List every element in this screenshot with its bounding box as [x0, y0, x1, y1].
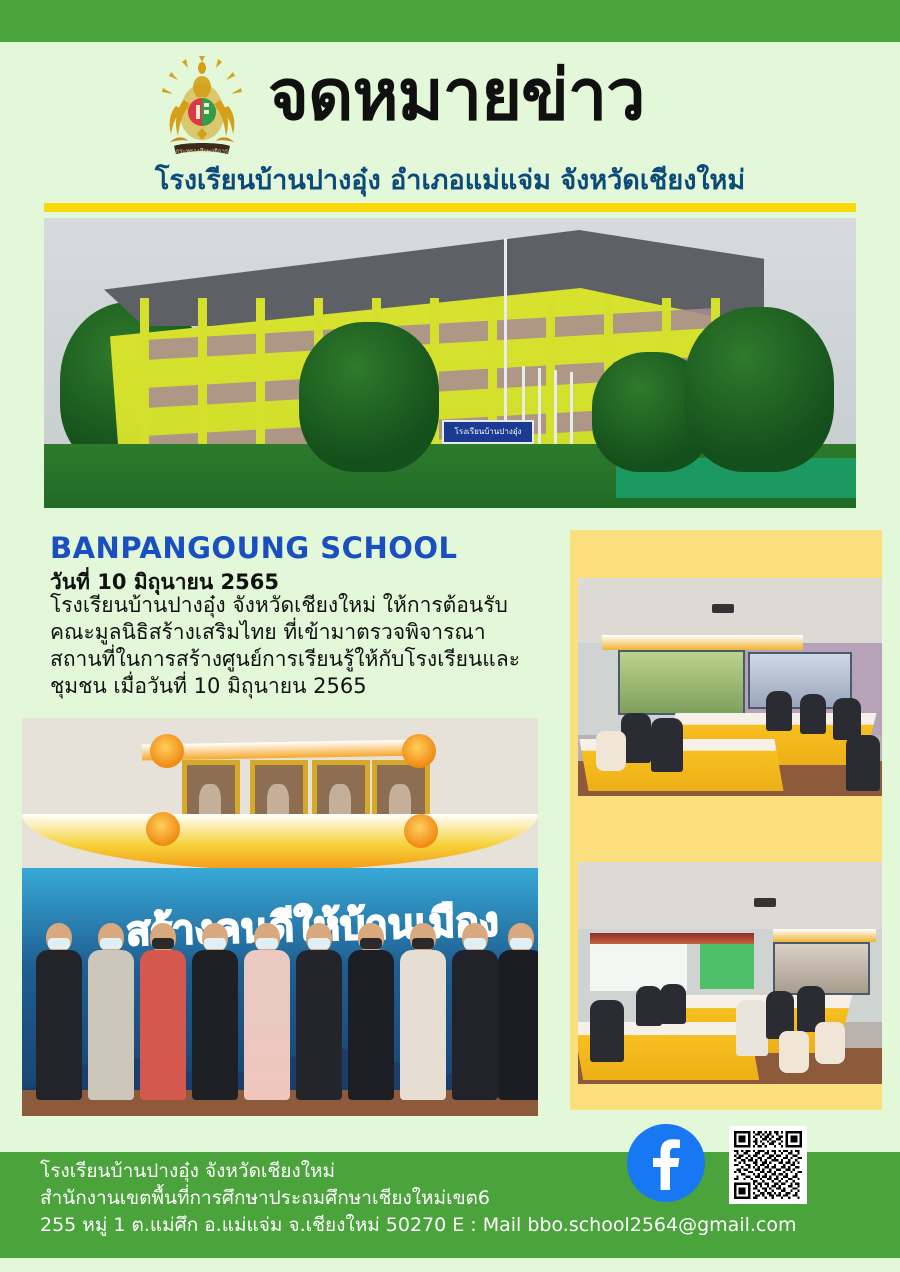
fabric-rosette: [146, 812, 180, 846]
school-name-sign-text: โรงเรียนบ้านปางอุ๋ง: [444, 422, 532, 442]
person: [192, 923, 238, 1100]
article-body-line: คณะมูลนิธิสร้างเสริมไทย ที่เข้ามาตรวจพิจ…: [50, 619, 555, 646]
masthead-title: จดหมายข่าว: [268, 60, 645, 130]
ministry-emblem-icon: กระทรวงศึกษาธิการ: [148, 54, 256, 166]
meeting-room-photo-bottom: [578, 862, 882, 1084]
person: [348, 923, 394, 1100]
ceiling: [578, 862, 882, 937]
article-title: BANPANGOUNG SCHOOL: [50, 531, 458, 565]
facebook-icon[interactable]: [627, 1124, 705, 1202]
qr-code[interactable]: [729, 1126, 807, 1204]
svg-text:กระทรวงศึกษาธิการ: กระทรวงศึกษาธิการ: [176, 148, 229, 155]
footer-line: โรงเรียนบ้านปางอุ๋ง จังหวัดเชียงใหม่: [40, 1158, 620, 1185]
seated-person: [636, 986, 662, 1026]
decor-valance: [590, 933, 754, 944]
footer-line: สำนักงานเขตพื้นที่การศึกษาประถมศึกษาเชีย…: [40, 1185, 620, 1212]
tree: [684, 307, 834, 472]
decor-valance: [773, 929, 876, 942]
person: [244, 923, 290, 1100]
school-name-sign: โรงเรียนบ้านปางอุ๋ง: [442, 420, 534, 444]
seated-person: [651, 718, 683, 772]
school-building-photo: โรงเรียนบ้านปางอุ๋ง: [44, 218, 856, 508]
chair: [779, 1031, 809, 1073]
meeting-room-photo-top: [578, 578, 882, 796]
chair: [596, 731, 626, 771]
article-body-line: โรงเรียนบ้านปางอุ๋ง จังหวัดเชียงใหม่ ให้…: [50, 592, 555, 619]
seated-person: [660, 984, 686, 1024]
seated-person: [833, 698, 861, 740]
article-body-line: สถานที่ในการสร้างศูนย์การเรียนรู้ให้กับโ…: [50, 646, 555, 673]
header: กระทรวงศึกษาธิการ จดหมายข่าว โรงเรียนบ้า…: [0, 46, 900, 198]
article-body: โรงเรียนบ้านปางอุ๋ง จังหวัดเชียงใหม่ ให้…: [50, 592, 555, 700]
person: [498, 923, 538, 1100]
projector: [754, 898, 776, 907]
person: [36, 923, 82, 1100]
person: [296, 923, 342, 1100]
person: [88, 923, 134, 1100]
projector: [712, 604, 734, 613]
footer-contact: โรงเรียนบ้านปางอุ๋ง จังหวัดเชียงใหม่ สำน…: [40, 1158, 620, 1239]
footer-line: 255 หมู่ 1 ต.แม่ศึก อ.แม่แจ่ม จ.เชียงใหม…: [40, 1212, 620, 1239]
fabric-rosette: [402, 734, 436, 768]
header-subtitle: โรงเรียนบ้านปางอุ๋ง อำเภอแม่แจ่ม จังหวัด…: [0, 158, 900, 201]
seated-person: [736, 1000, 768, 1056]
fabric-rosette: [404, 814, 438, 848]
seated-person: [590, 1000, 624, 1062]
window: [700, 944, 755, 988]
seated-person: [800, 694, 826, 734]
decor-valance: [602, 635, 803, 650]
chair: [815, 1022, 845, 1064]
projection-screen: [618, 650, 746, 715]
seated-person: [766, 691, 792, 731]
person: [452, 923, 498, 1100]
top-green-band: [0, 0, 900, 42]
article-body-line: ชุมชน เมื่อวันที่ 10 มิถุนายน 2565: [50, 673, 555, 700]
newsletter-page: กระทรวงศึกษาธิการ จดหมายข่าว โรงเรียนบ้า…: [0, 0, 900, 1272]
yellow-divider: [44, 203, 856, 212]
group-photo-with-royal-portraits: สร้างคนดีให้บ้านเมือง: [22, 718, 538, 1116]
seated-person: [846, 735, 880, 791]
fabric-rosette: [150, 734, 184, 768]
person: [140, 923, 186, 1100]
tree: [299, 322, 439, 472]
person: [400, 923, 446, 1100]
